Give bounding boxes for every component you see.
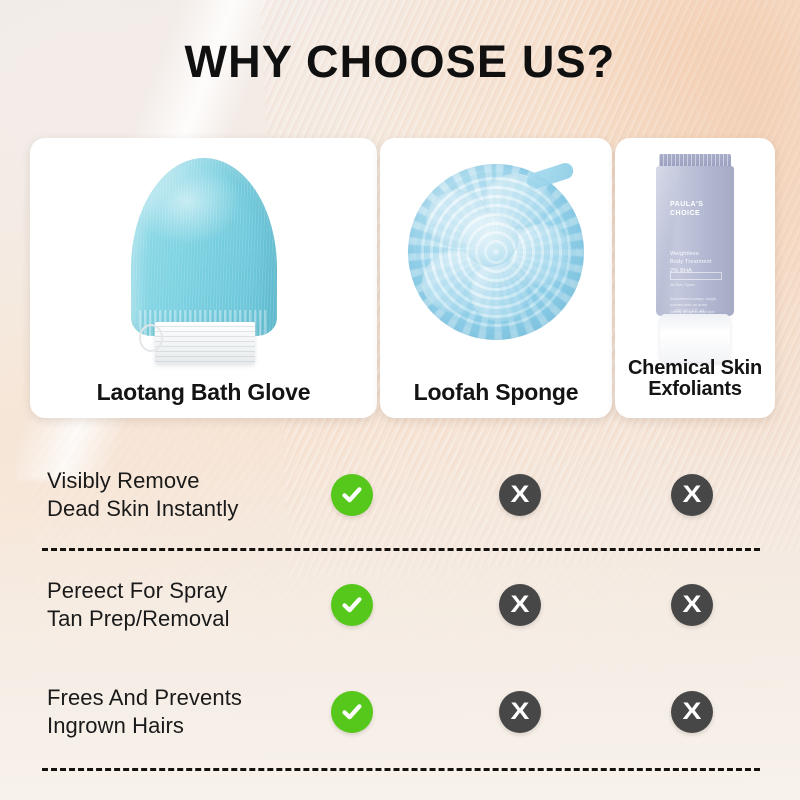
bath-glove-image xyxy=(30,142,377,370)
x-glyph: X xyxy=(683,593,702,617)
product-cards: Laotang Bath Glove Loofah Sponge xyxy=(30,138,775,418)
product-label-bath-glove: Laotang Bath Glove xyxy=(34,380,373,404)
loofah-sponge-image xyxy=(380,142,612,370)
tube-size-text: 120 ml / 4 fl. oz. xyxy=(674,308,706,313)
check-icon xyxy=(331,474,373,516)
comparison-row-1: Visibly Remove Dead Skin Instantly X X xyxy=(0,440,800,550)
x-icon: X xyxy=(499,691,541,733)
comparison-row-2: Pereect For Spray Tan Prep/Removal X X xyxy=(0,550,800,660)
product-card-loofah-sponge[interactable]: Loofah Sponge xyxy=(380,138,612,418)
product-label-chemical-exfoliant: Chemical SkinExfoliants xyxy=(619,358,771,400)
x-glyph: X xyxy=(511,700,530,724)
page-title: WHY CHOOSE US? xyxy=(0,36,800,88)
tube-cap-base xyxy=(660,314,730,362)
x-glyph: X xyxy=(683,483,702,507)
product-card-chemical-exfoliant[interactable]: PAULA'SCHOICE Weightless Body Treatment … xyxy=(615,138,775,418)
exfoliant-tube-image: PAULA'SCHOICE Weightless Body Treatment … xyxy=(615,142,775,370)
x-glyph: X xyxy=(511,593,530,617)
glove-hanging-loop xyxy=(139,324,163,352)
check-icon xyxy=(331,584,373,626)
feature-label-2: Pereect For Spray Tan Prep/Removal xyxy=(47,577,230,633)
comparison-row-3: Frees And Prevents Ingrown Hairs X X xyxy=(0,660,800,764)
loofah-tie-strap xyxy=(525,161,576,191)
x-icon: X xyxy=(671,691,713,733)
x-glyph: X xyxy=(683,700,702,724)
x-icon: X xyxy=(499,474,541,516)
product-card-bath-glove[interactable]: Laotang Bath Glove xyxy=(30,138,377,418)
x-glyph: X xyxy=(511,483,530,507)
feature-label-1: Visibly Remove Dead Skin Instantly xyxy=(47,467,238,523)
comparison-table: Visibly Remove Dead Skin Instantly X X P… xyxy=(0,440,800,764)
tube-ingredient-box xyxy=(670,272,722,280)
product-label-loofah-sponge: Loofah Sponge xyxy=(384,380,608,404)
x-icon: X xyxy=(671,584,713,626)
infographic-page: WHY CHOOSE US? Laotang Bath Glove xyxy=(0,0,800,800)
feature-label-3: Frees And Prevents Ingrown Hairs xyxy=(47,684,242,740)
check-icon xyxy=(331,691,373,733)
x-icon: X xyxy=(671,474,713,516)
x-icon: X xyxy=(499,584,541,626)
row-divider xyxy=(42,768,760,771)
tube-brand-name: PAULA'SCHOICE xyxy=(670,200,703,219)
